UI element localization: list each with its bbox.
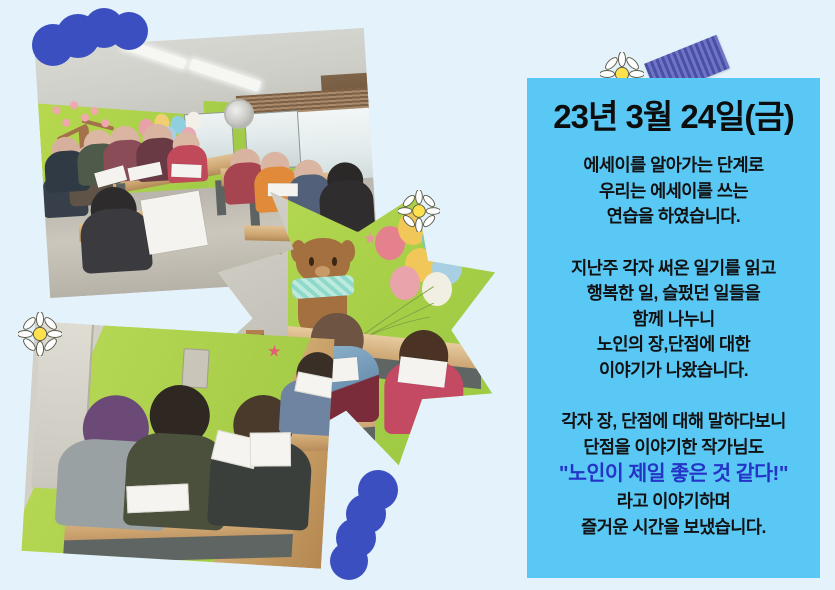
page-title: 23년 3월 24일(금) — [527, 100, 820, 133]
daisy-flower-icon — [398, 190, 440, 232]
para3-line2: 단점을 이야기한 작가님도 — [583, 437, 763, 457]
poster-canvas: 23년 3월 24일(금) 에세이를 알아가는 단계로 우리는 에세이를 쓰는 … — [0, 0, 835, 590]
para1-line3: 연습을 하였습니다. — [607, 206, 741, 226]
para2-line5: 이야기가 나왔습니다. — [599, 360, 748, 380]
paper-sheet — [397, 356, 447, 387]
wall-box — [181, 349, 209, 389]
para1-line1: 에세이를 알아가는 단계로 — [583, 155, 763, 175]
info-text-panel: 23년 3월 24일(금) 에세이를 알아가는 단계로 우리는 에세이를 쓰는 … — [527, 78, 820, 578]
paper-sheet — [171, 164, 201, 178]
para3-line4: 라고 이야기하며 — [617, 491, 731, 511]
paper-sheet — [141, 191, 209, 255]
paragraph-two: 지난주 각자 써온 일기를 읽고 행복한 일, 슬펐던 일들을 함께 나누니 노… — [527, 256, 820, 384]
person — [90, 185, 141, 273]
para3-line5: 즐거운 시간을 보냈습니다. — [581, 517, 766, 537]
para2-line4: 노인의 장,단점에 대한 — [597, 334, 751, 354]
para2-line2: 행복한 일, 슬펐던 일들을 — [587, 283, 760, 303]
highlighted-quote: "노인이 제일 좋은 것 같다!" — [559, 462, 788, 485]
paragraph-three: 각자 장, 단점에 대해 말하다보니 단점을 이야기한 작가님도 "노인이 제일… — [527, 409, 820, 540]
para2-line1: 지난주 각자 써온 일기를 읽고 — [571, 258, 776, 278]
blue-circle-chain-icon — [32, 8, 152, 66]
para2-line3: 함께 나누니 — [632, 309, 714, 329]
paper-sheet — [126, 484, 189, 514]
photo-discussion — [21, 321, 334, 568]
daisy-flower-icon — [18, 312, 62, 356]
notebook — [250, 432, 291, 467]
para3-line1: 각자 장, 단점에 대해 말하다보니 — [561, 411, 786, 431]
para1-line2: 우리는 에세이를 쓰는 — [599, 181, 748, 201]
paragraph-one: 에세이를 알아가는 단계로 우리는 에세이를 쓰는 연습을 하였습니다. — [527, 153, 820, 230]
blue-circle-chain-icon — [330, 470, 410, 590]
photo-discussion-scene — [21, 321, 334, 568]
